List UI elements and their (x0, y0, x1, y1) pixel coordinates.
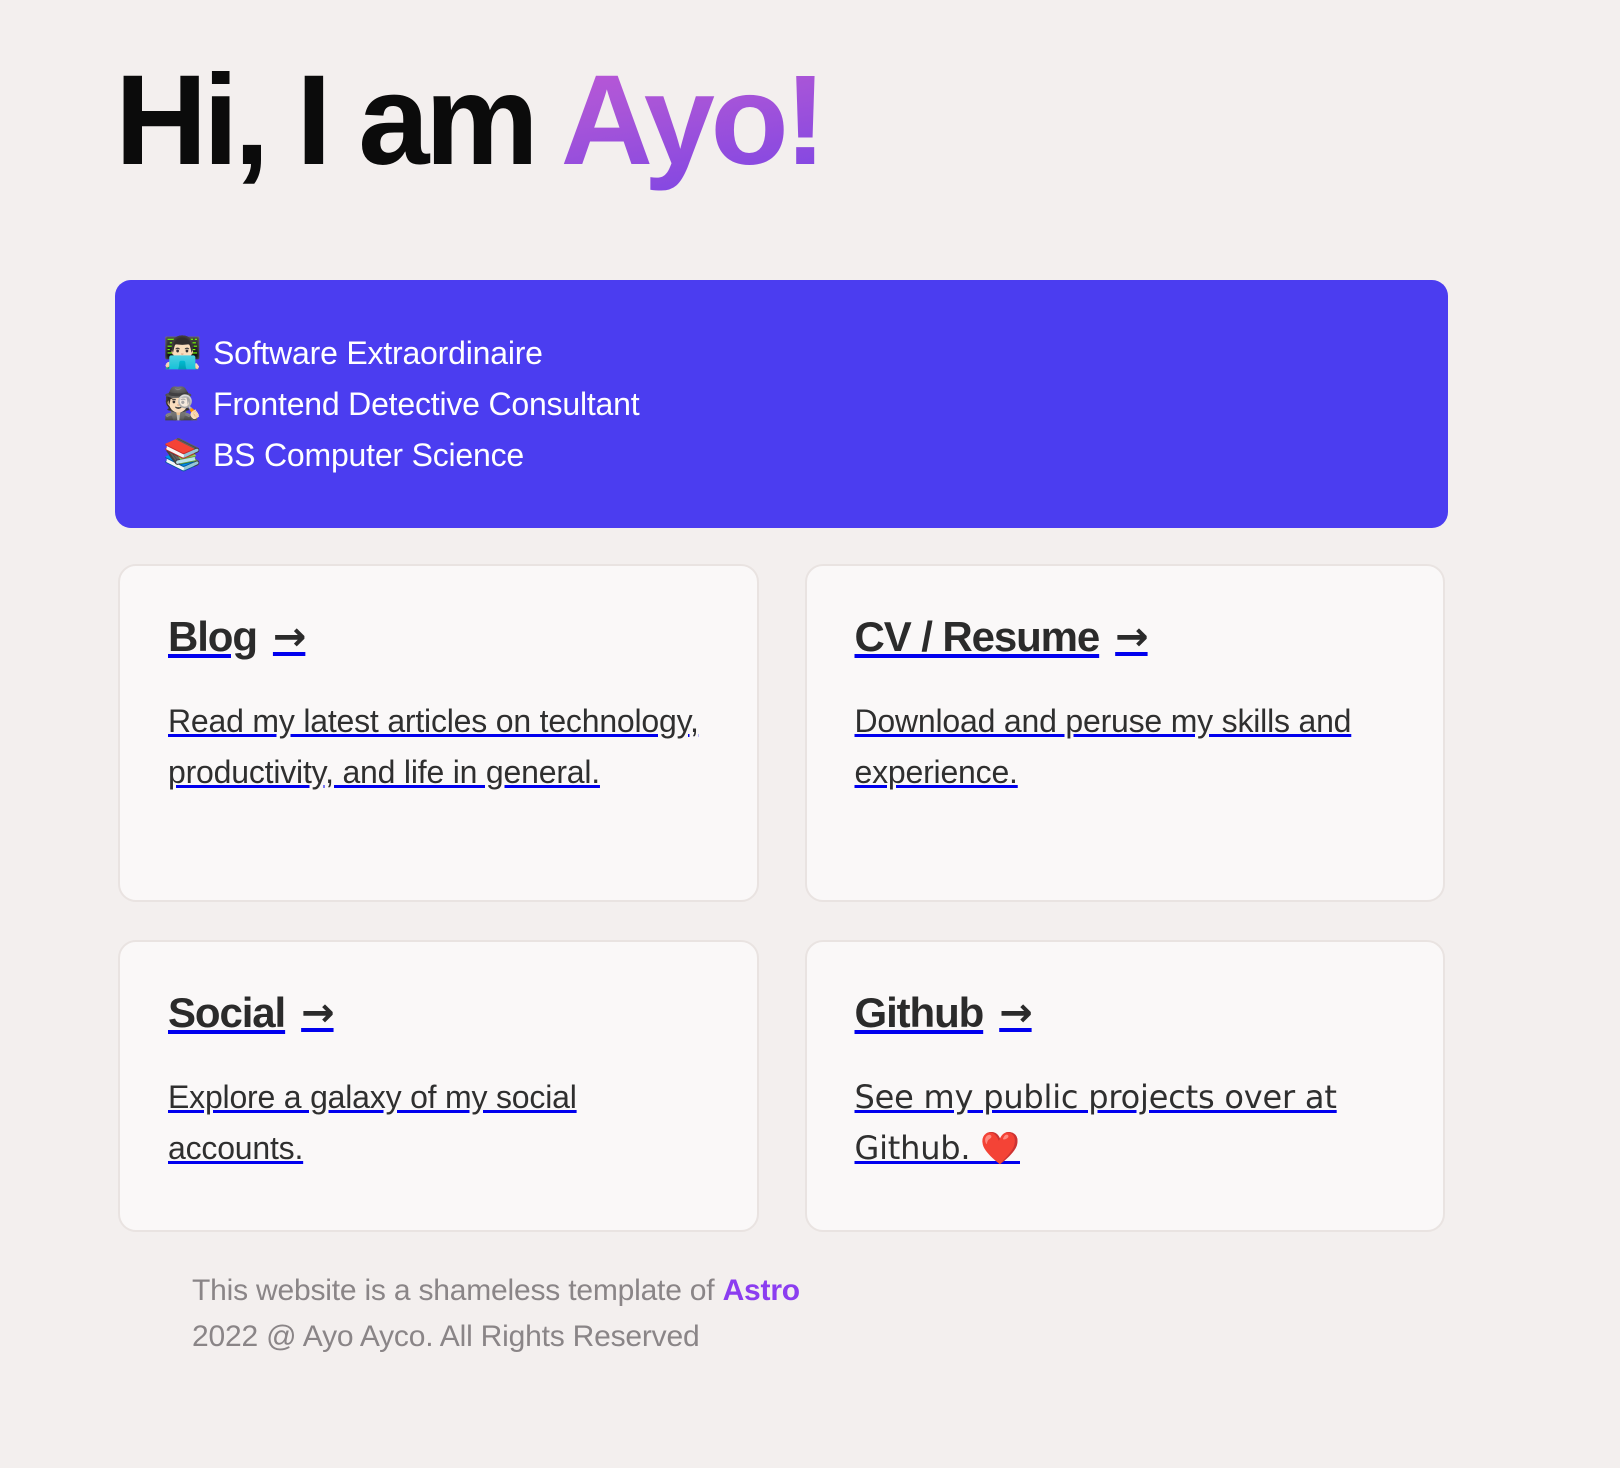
info-row-education: 📚 BS Computer Science (163, 435, 1400, 475)
arrow-right-icon: → (999, 993, 1031, 1033)
footer-copyright: 2022 @ Ayo Ayco. All Rights Reserved (192, 1314, 1392, 1360)
card-body: Explore a galaxy of my social accounts. (168, 1072, 708, 1173)
page-title: Hi, I am Ayo! (115, 52, 1455, 190)
card-github[interactable]: Github → See my public projects over at … (805, 940, 1446, 1232)
hero-greeting: Hi, I am (115, 49, 561, 192)
card-social[interactable]: Social → Explore a galaxy of my social a… (118, 940, 759, 1232)
info-row-frontend: 🕵🏻 Frontend Detective Consultant (163, 384, 1400, 424)
arrow-right-icon: → (273, 617, 305, 657)
card-title: Blog → (168, 614, 709, 660)
books-emoji: 📚 (163, 440, 199, 471)
card-title: Github → (855, 990, 1396, 1036)
footer-credit-text: This website is a shameless template of (192, 1274, 723, 1307)
hero-name-accent: Ayo! (561, 49, 823, 192)
footer: This website is a shameless template of … (192, 1268, 1392, 1359)
card-title-text: CV / Resume (855, 614, 1100, 660)
info-row-software: 👨🏻‍💻 Software Extraordinaire (163, 333, 1400, 373)
info-row-label: BS Computer Science (213, 435, 524, 475)
card-title-text: Github (855, 990, 984, 1036)
card-title: CV / Resume → (855, 614, 1396, 660)
page-root: Hi, I am Ayo! 👨🏻‍💻 Software Extraordinai… (0, 0, 1620, 1468)
card-grid: Blog → Read my latest articles on techno… (118, 564, 1445, 1232)
astro-link[interactable]: Astro (723, 1274, 800, 1307)
info-panel: 👨🏻‍💻 Software Extraordinaire 🕵🏻 Frontend… (115, 280, 1448, 528)
card-title-text: Social (168, 990, 285, 1036)
arrow-right-icon: → (1115, 617, 1147, 657)
card-title-text: Blog (168, 614, 257, 660)
info-row-label: Frontend Detective Consultant (213, 384, 639, 424)
card-blog[interactable]: Blog → Read my latest articles on techno… (118, 564, 759, 902)
hero-section: Hi, I am Ayo! (115, 52, 1455, 190)
card-title: Social → (168, 990, 709, 1036)
footer-credit-line: This website is a shameless template of … (192, 1268, 1392, 1314)
detective-emoji: 🕵🏻 (163, 389, 199, 420)
card-body: See my public projects over at Github. ❤… (855, 1072, 1395, 1173)
info-row-label: Software Extraordinaire (213, 333, 543, 373)
arrow-right-icon: → (301, 993, 333, 1033)
card-body: Download and peruse my skills and experi… (855, 696, 1395, 797)
card-cv-resume[interactable]: CV / Resume → Download and peruse my ski… (805, 564, 1446, 902)
man-technologist-emoji: 👨🏻‍💻 (163, 338, 199, 369)
card-body: Read my latest articles on technology, p… (168, 696, 708, 797)
